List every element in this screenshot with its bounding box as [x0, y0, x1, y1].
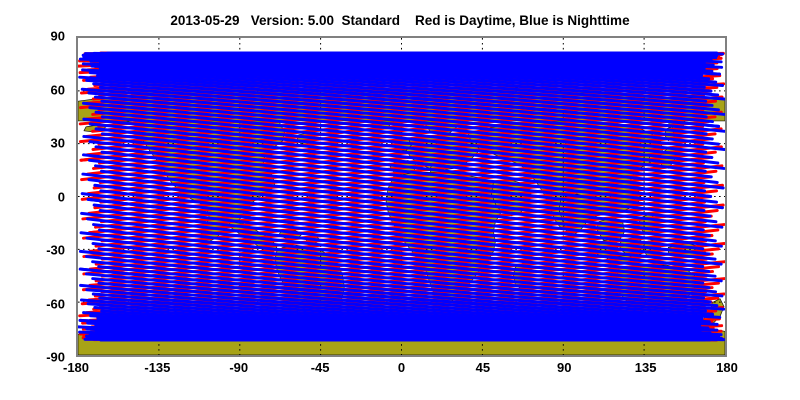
- x-tick-label-180: 180: [716, 360, 738, 375]
- y-tick-label-0: 0: [5, 189, 65, 204]
- y-tick-label--60: -60: [5, 296, 65, 311]
- plot-area: [76, 36, 727, 357]
- y-tick-label--30: -30: [5, 243, 65, 258]
- x-tick-label--90: -90: [229, 360, 248, 375]
- plot-canvas: [78, 38, 725, 355]
- x-tick-label--135: -135: [144, 360, 170, 375]
- y-tick-label-90: 90: [5, 29, 65, 44]
- x-tick-label--45: -45: [311, 360, 330, 375]
- map-and-tracks-svg: [78, 38, 725, 355]
- ground-track-plot-page: 2013-05-29 Version: 5.00 Standard Red is…: [0, 0, 800, 400]
- page-title: 2013-05-29 Version: 5.00 Standard Red is…: [0, 13, 800, 28]
- y-tick-label-30: 30: [5, 136, 65, 151]
- y-tick-label--90: -90: [5, 350, 65, 365]
- x-tick-label-135: 135: [635, 360, 657, 375]
- x-tick-label-90: 90: [557, 360, 571, 375]
- x-tick-label-45: 45: [476, 360, 490, 375]
- y-tick-label-60: 60: [5, 82, 65, 97]
- x-tick-label--180: -180: [63, 360, 89, 375]
- x-tick-label-0: 0: [398, 360, 405, 375]
